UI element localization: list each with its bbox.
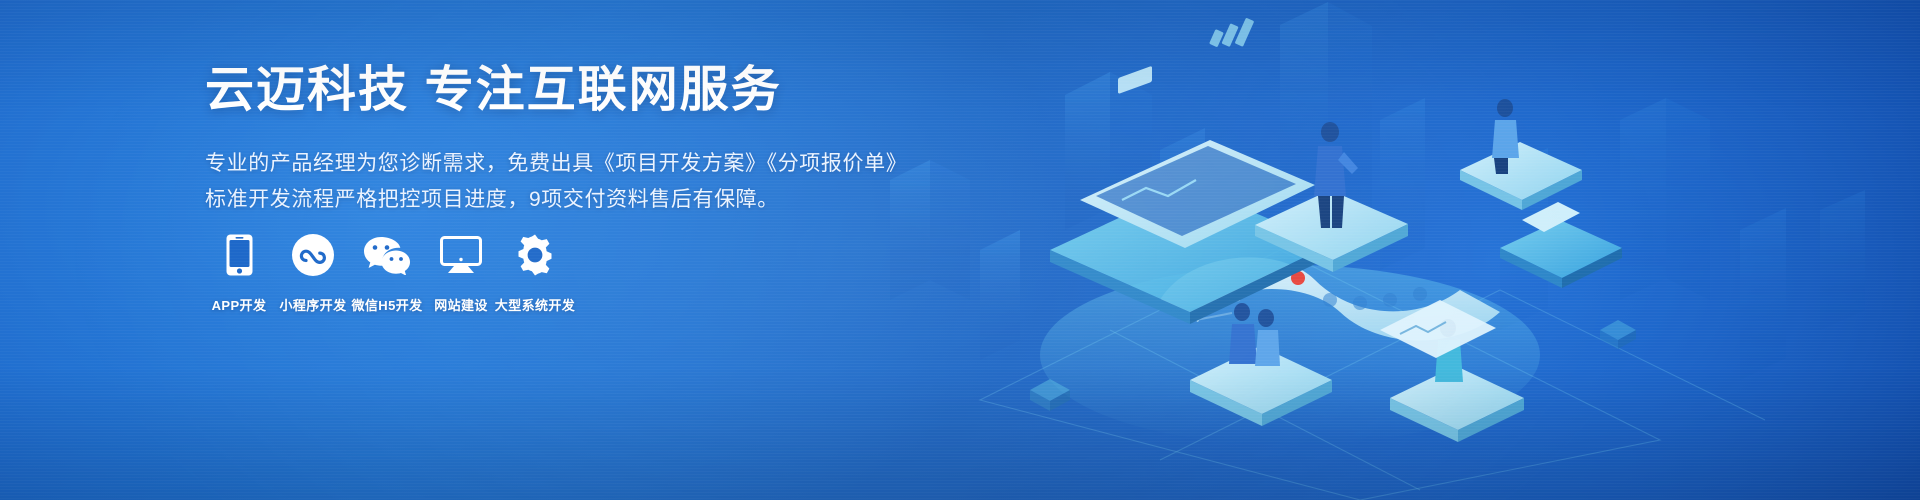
step-platforms: [1460, 99, 1622, 288]
page-title: 云迈科技 专注互联网服务: [205, 62, 905, 120]
mini-program-icon: [292, 232, 334, 278]
service-item-miniprogram[interactable]: 小程序开发: [277, 232, 349, 314]
hero-copy: 云迈科技 专注互联网服务 专业的产品经理为您诊断需求，免费出具《项目开发方案》《…: [205, 62, 905, 218]
service-label: APP开发: [212, 295, 267, 314]
service-label: 大型系统开发: [495, 295, 575, 314]
subtitle-line-2: 标准开发流程严格把控项目进度，9项交付资料售后有保障。: [205, 182, 905, 218]
service-item-large-system[interactable]: 大型系统开发: [499, 232, 571, 314]
service-label: 小程序开发: [279, 295, 346, 314]
service-list: APP开发 小程序开发 微信: [203, 232, 573, 314]
subtitle-line-1: 专业的产品经理为您诊断需求，免费出具《项目开发方案》《分项报价单》: [205, 146, 905, 182]
hero-banner: 云迈科技 专注互联网服务 专业的产品经理为您诊断需求，免费出具《项目开发方案》《…: [0, 0, 1920, 500]
mobile-phone-icon: [226, 232, 253, 278]
hero-subtitle: 专业的产品经理为您诊断需求，免费出具《项目开发方案》《分项报价单》 标准开发流程…: [205, 146, 905, 218]
service-item-wechat-h5[interactable]: 微信H5开发: [351, 232, 423, 314]
service-item-website[interactable]: 网站建设: [425, 232, 497, 314]
wechat-icon: [363, 232, 411, 278]
illustration: [860, 0, 1920, 500]
service-item-app[interactable]: APP开发: [203, 232, 275, 314]
service-label: 微信H5开发: [351, 295, 422, 314]
service-label: 网站建设: [434, 295, 488, 314]
gear-icon: [514, 232, 556, 278]
monitor-icon: [440, 232, 482, 278]
